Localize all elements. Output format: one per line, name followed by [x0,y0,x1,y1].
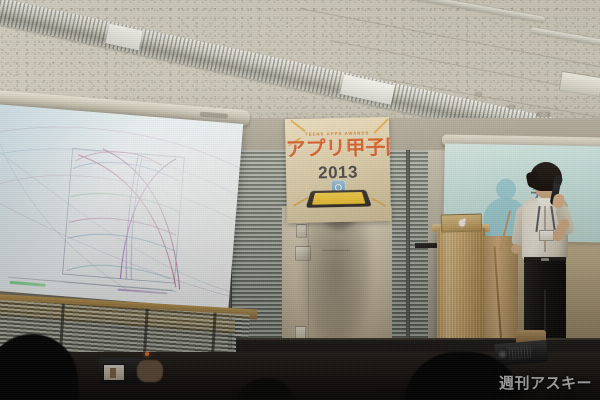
camera-lcd-screen [103,364,125,381]
presenter-left-hand [511,244,521,254]
sprinkler-head-icon [475,92,482,96]
camera-status-led-icon [145,352,149,356]
banner-accent-stroke [371,197,386,206]
banner-accent-stroke [290,120,305,132]
event-banner: TEENS APPS AWARDS アプリ甲子園 2013 [285,117,391,223]
main-projection-screen [0,104,245,324]
projected-image [0,104,243,309]
photographer-hand [137,360,163,382]
smartphone-illustration [306,190,372,208]
sprinkler-head-icon [537,112,550,117]
device-screen [312,192,365,205]
sprinkler-head-icon [508,105,515,109]
banner-english-tagline: TEENS APPS AWARDS [285,130,389,137]
projector-vents [508,345,531,360]
photo-scene: TEENS APPS AWARDS アプリ甲子園 2013 デ [0,0,600,400]
laptop[interactable] [441,213,482,232]
shirt-placket [544,206,546,252]
glass-mullion [406,150,410,350]
housing-end-cap [200,112,228,119]
watermark: 週刊アスキー [499,372,592,393]
projector [494,340,548,366]
presenter [506,162,582,352]
apple-logo-icon [458,219,464,226]
banner-title: アプリ甲子園 [285,137,389,161]
lectern-texture [437,228,485,350]
audience-photographer [93,352,169,400]
lectern [437,228,485,350]
